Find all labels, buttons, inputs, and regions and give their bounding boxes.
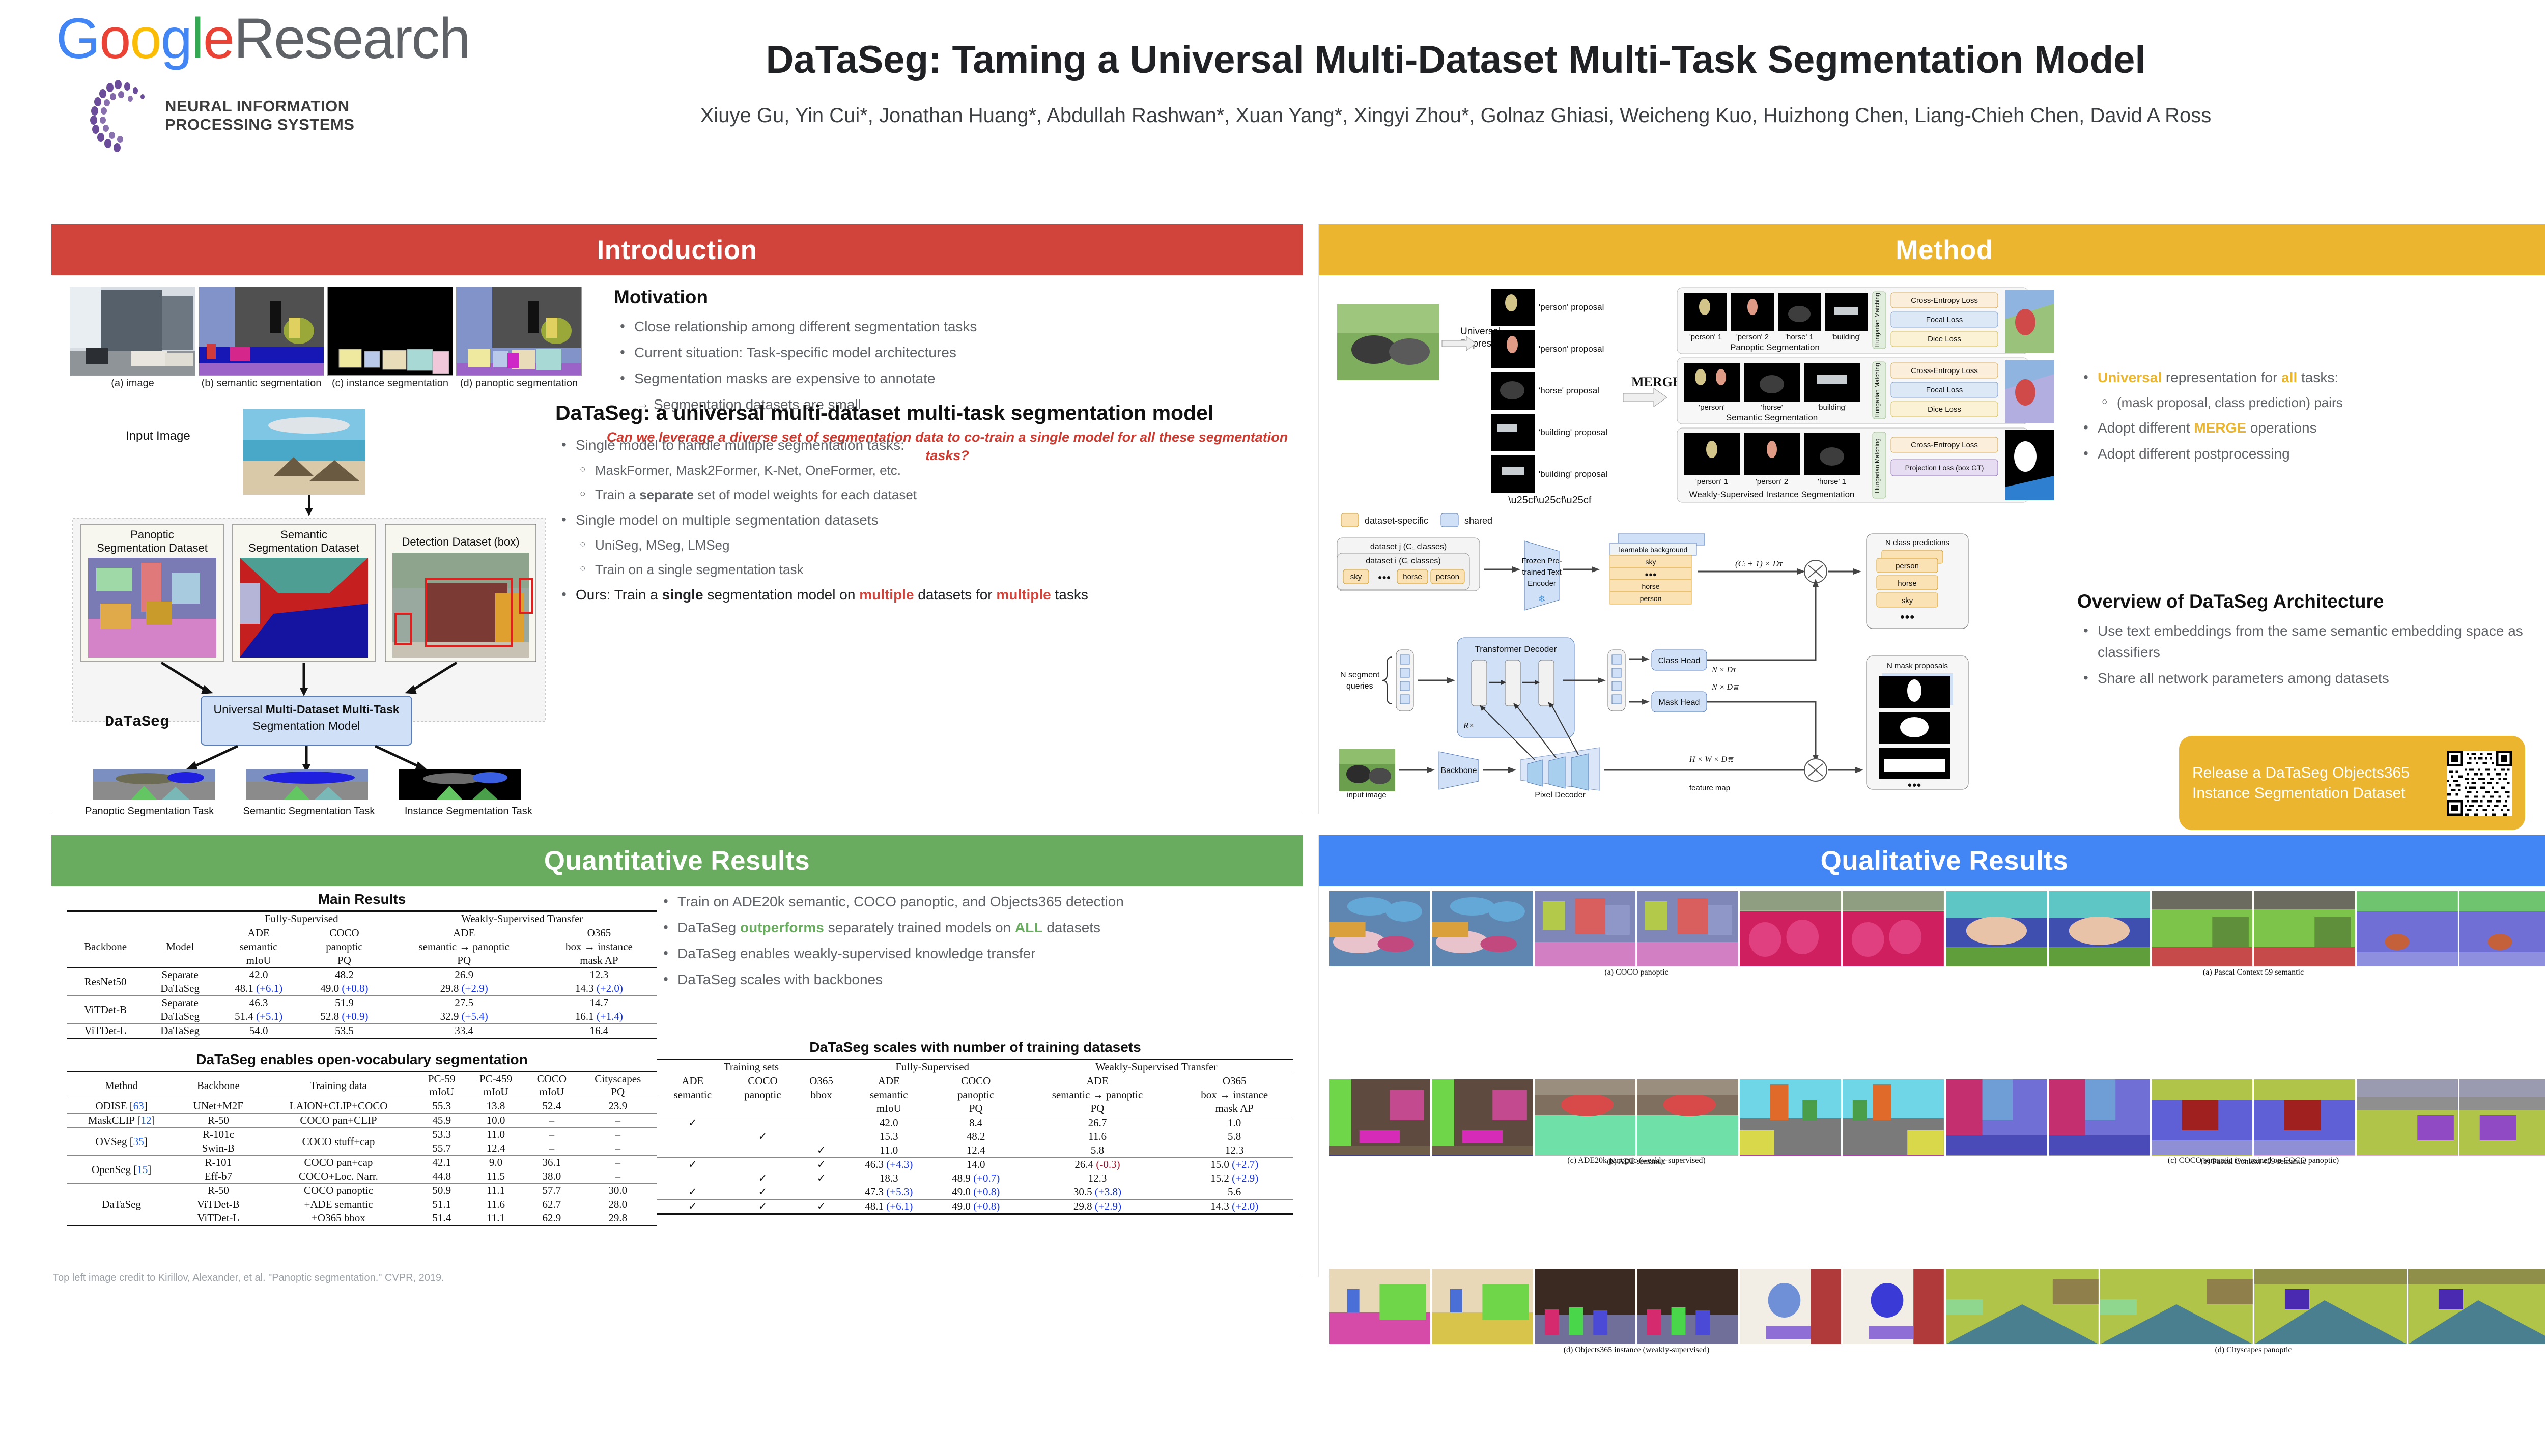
cell-value: 12.4 — [932, 1144, 1020, 1158]
qual-strip — [1329, 1079, 1944, 1155]
architecture-overview-item: Share all network parameters among datas… — [2077, 668, 2545, 689]
svg-text:Panoptic: Panoptic — [130, 528, 174, 541]
scale-hdr-m2: COCO — [932, 1074, 1020, 1089]
introduction-panel: Introduction — [51, 224, 1303, 814]
svg-text:'building' proposal: 'building' proposal — [1539, 469, 1607, 479]
quantitative-title: Quantitative Results — [544, 845, 810, 876]
motivation-title: Motivation — [614, 287, 1276, 308]
qual-cell-coco-semantic: (c) COCO semantic (we trained on COCO pa… — [1946, 1079, 2545, 1267]
check-cell: ✓ — [797, 1158, 845, 1172]
table-row: ✓ 11.0 12.4 5.8 12.3 — [657, 1144, 1293, 1158]
dataseg-description: DaTaSeg: a universal multi-dataset multi… — [555, 400, 1278, 610]
dataseg-bullet-list: Single model to handle multiple segmenta… — [555, 435, 1278, 606]
qr-code-icon[interactable] — [2447, 751, 2512, 816]
merge-row-panoptic: 'person' 1 'person' 2 'horse' 1 'buildin… — [1677, 288, 2054, 354]
google-letter-l: l — [191, 7, 203, 70]
cell-value: 18.3 — [845, 1172, 932, 1185]
scale-table-title: DaTaSeg scales with number of training d… — [657, 1039, 1293, 1055]
svg-text:'person' 2: 'person' 2 — [1756, 477, 1788, 486]
svg-text:horse: horse — [1642, 582, 1659, 590]
scale-group-weakly: Weakly-Supervised Transfer — [1020, 1060, 1293, 1074]
qual-tile — [1946, 1079, 2047, 1155]
label-dataseg: DaTaSeg — [105, 713, 169, 731]
cell-value: 11.1 — [467, 1184, 525, 1198]
svg-text:Hungarian Matching: Hungarian Matching — [1874, 438, 1881, 493]
scale-met-2: PQ — [932, 1102, 1020, 1116]
cell-value: 51.4 — [417, 1211, 467, 1226]
qual-tile — [1740, 891, 1841, 966]
svg-text:Projection Loss (box GT): Projection Loss (box GT) — [1905, 464, 1984, 472]
cell-value: 62.7 — [525, 1197, 578, 1211]
table-row: DaTaSeg R-50 COCO panoptic 50.9 11.1 57.… — [67, 1184, 657, 1198]
cell-value: 11.0 — [467, 1128, 525, 1142]
check-cell: ✓ — [797, 1144, 845, 1158]
check-cell: ✓ — [657, 1185, 728, 1200]
label-mask-proposals: N mask proposals — [1887, 662, 1948, 670]
cell-backbone: Swin-B — [176, 1141, 260, 1156]
dataseg-subbullet: Train on a single segmentation task — [555, 560, 1278, 580]
table-row: ViTDet-L DaTaSeg 54.0 53.5 33.4 16.4 — [67, 1024, 657, 1039]
svg-text:●●●: ●●● — [1900, 613, 1915, 621]
task-caption-instance: Instance Segmentation Task — [389, 806, 548, 817]
svg-text:sky: sky — [1350, 573, 1362, 581]
main-results-title: Main Results — [67, 891, 657, 907]
neurips-spiral-icon — [87, 78, 163, 152]
svg-text:sky: sky — [1646, 558, 1656, 566]
task-caption-semantic: Semantic Segmentation Task — [229, 806, 388, 817]
svg-text:'person' 2: 'person' 2 — [1736, 333, 1769, 341]
check-cell: ✓ — [797, 1172, 845, 1185]
svg-text:'horse': 'horse' — [1761, 403, 1783, 412]
scale-sub-7: box → instance — [1175, 1088, 1293, 1102]
scale-sub-1: semantic — [657, 1088, 728, 1102]
delta: (+0.9) — [342, 1010, 368, 1022]
cell-train: +O365 bbox — [260, 1211, 416, 1226]
cell-value: – — [579, 1156, 657, 1170]
cell-value: 5.8 — [1175, 1130, 1293, 1144]
dataseg-subbullet: UniSeg, MSeg, LMSeg — [555, 535, 1278, 555]
method-text-1: representation for — [2162, 369, 2281, 385]
emph-all: all — [2281, 369, 2297, 385]
label-mask-head: Mask Head — [1659, 698, 1700, 707]
delta: (+5.4) — [462, 1010, 488, 1022]
qual-tile — [2254, 1269, 2407, 1344]
scale-sub-4: semantic — [845, 1088, 932, 1102]
motivation-item: Close relationship among different segme… — [614, 316, 1276, 337]
quantitative-banner: Quantitative Results — [51, 835, 1303, 886]
cell-value: 48.1 (+6.1) — [216, 982, 301, 996]
method-text-3: Adopt different — [2098, 420, 2194, 436]
dataseg-bullet: Single model on multiple segmentation da… — [555, 509, 1278, 531]
qual-tile — [1637, 1269, 1738, 1344]
cell-value: – — [579, 1141, 657, 1156]
dataseg-overview-diagram: Input Image Panoptic Segmenta — [70, 400, 558, 817]
method-bullet-merge: Adopt different MERGE operations — [2077, 417, 2545, 439]
check-cell: ✓ — [728, 1172, 798, 1185]
dataset-release-text: Release a DaTaSeg Objects365 Instance Se… — [2192, 763, 2447, 803]
cell-value: – — [579, 1128, 657, 1142]
cell-value: 53.3 — [417, 1128, 467, 1142]
delta: (+4.3) — [886, 1158, 913, 1170]
cell-train: COCO+Loc. Narr. — [260, 1169, 416, 1184]
cell-value: 30.5 (+3.8) — [1020, 1185, 1176, 1200]
cell-backbone: Eff-b7 — [176, 1169, 260, 1184]
quant-bullet: Train on ADE20k semantic, COCO panoptic,… — [657, 891, 1293, 912]
intro-caption-b: (b) semantic segmentation — [199, 378, 324, 389]
quant-bullet-outperforms: DaTaSeg outperforms separately trained m… — [657, 917, 1293, 938]
table-row: ✓✓✓ 48.1 (+6.1) 49.0 (+0.8) 29.8 (+2.9) … — [657, 1200, 1293, 1214]
method-bullet-universal: Universal representation for all tasks: — [2077, 367, 2545, 388]
table-row: OVSeg [35] R-101c COCO stuff+cap 53.3 11… — [67, 1128, 657, 1142]
main-group-fully: Fully-Supervised — [216, 911, 387, 926]
qual-tile — [2357, 1079, 2458, 1155]
cell-method: OVSeg [35] — [67, 1128, 176, 1156]
cell-method: OpenSeg [15] — [67, 1156, 176, 1184]
cell-value: 51.4 (+5.1) — [216, 1010, 301, 1024]
cell-backbone: R-50 — [176, 1114, 260, 1128]
scale-sub-2: panoptic — [728, 1088, 798, 1102]
cell-value: 29.8 (+2.9) — [1020, 1200, 1176, 1214]
cell-value: 55.3 — [417, 1099, 467, 1114]
hdr-metric-1: mIoU — [216, 954, 301, 968]
svg-text:queries: queries — [1346, 682, 1373, 691]
merge-row-semantic: 'person' 'horse' 'building' Semantic Seg… — [1677, 358, 2054, 424]
intro-figure-c: (c) instance segmentation — [327, 287, 453, 389]
scale-met-3: PQ — [1020, 1102, 1176, 1116]
citation-link[interactable]: 12 — [140, 1114, 151, 1126]
qual-tile — [1740, 1269, 1841, 1344]
qual-caption-c-left: (c) ADE20k panoptic (weakly-supervised) — [1329, 1156, 1944, 1165]
cell-train: COCO pan+cap — [260, 1156, 416, 1170]
qual-tile — [1637, 1079, 1738, 1155]
qual-strip — [1946, 1079, 2545, 1155]
svg-text:'person' 1: 'person' 1 — [1695, 477, 1728, 486]
hdr-ov-coco: COCOmIoU — [525, 1072, 578, 1099]
qual-tile — [1432, 1079, 1533, 1155]
cell-backbone: R-50 — [176, 1184, 260, 1198]
cell-value: 14.0 — [932, 1158, 1020, 1172]
label-pixel-decoder: Pixel Decoder — [1535, 791, 1586, 800]
dataseg-ours-bullet: Ours: Train a single segmentation model … — [555, 584, 1278, 606]
introduction-title: Introduction — [597, 235, 757, 266]
delta: (+5.3) — [886, 1186, 913, 1198]
delta: (+0.8) — [342, 982, 368, 994]
label-dim-mask: N × Dℼ — [1711, 683, 1739, 692]
scale-met-4: mask AP — [1175, 1102, 1293, 1116]
cell-value: 57.7 — [525, 1184, 578, 1198]
label-input-image: Input Image — [126, 429, 190, 443]
svg-text:horse: horse — [1898, 579, 1917, 588]
qual-caption-c-right: (c) COCO semantic (we trained on COCO pa… — [1946, 1156, 2545, 1165]
neurips-line1: NEURAL INFORMATION — [165, 97, 354, 116]
dataseg-subbullet: Train a separate set of model weights fo… — [555, 485, 1278, 505]
svg-text:❄: ❄ — [1538, 594, 1545, 604]
hdr-ov-city: CityscapesPQ — [579, 1072, 657, 1099]
poster-title: DaTaSeg: Taming a Universal Multi-Datase… — [499, 38, 2413, 81]
hdr-metric-3: PQ — [387, 954, 541, 968]
cell-value: 29.8 — [579, 1211, 657, 1226]
qual-tile — [1843, 1269, 1944, 1344]
cell-value: 9.0 — [467, 1156, 525, 1170]
cell-value: 26.7 — [1020, 1116, 1176, 1130]
scale-met-1: mIoU — [845, 1102, 932, 1116]
architecture-overview-title: Overview of DaTaSeg Architecture — [2077, 591, 2545, 612]
hdr-sub-4: box → instance — [541, 940, 657, 954]
cell-value: 38.0 — [525, 1169, 578, 1184]
cell-value: 48.1 (+6.1) — [845, 1200, 932, 1214]
cell-value: 42.0 — [216, 968, 301, 982]
table-row: DaTaSeg 48.1 (+6.1) 49.0 (+0.8) 29.8 (+2… — [67, 982, 657, 996]
qual-tile — [2357, 891, 2458, 966]
method-title: Method — [1896, 235, 1993, 266]
scale-hdr-m1: ADE — [845, 1074, 932, 1089]
dataseg-bullet: Single model to handle multiple segmenta… — [555, 435, 1278, 456]
intro-caption-a: (a) image — [70, 378, 195, 389]
cell-value: 49.0 (+0.8) — [932, 1200, 1020, 1214]
cell-backbone: ViTDet-L — [67, 1024, 144, 1039]
svg-text:Cross-Entropy Loss: Cross-Entropy Loss — [1911, 441, 1978, 449]
qual-tile — [1740, 1079, 1841, 1155]
cell-value: 46.3 — [216, 996, 301, 1010]
delta: (+3.8) — [1095, 1186, 1121, 1198]
cell-train: +ADE semantic — [260, 1197, 416, 1211]
cell-value: – — [525, 1114, 578, 1128]
cell-value: 44.8 — [417, 1169, 467, 1184]
cell-backbone: UNet+M2F — [176, 1099, 260, 1114]
introduction-body: (a) image — [51, 275, 1303, 814]
svg-text:person: person — [1640, 594, 1662, 603]
cell-value: 62.9 — [525, 1211, 578, 1226]
cell-value: 11.1 — [467, 1211, 525, 1226]
cell-value: 26.9 — [387, 968, 541, 982]
image-credit: Top left image credit to Kirillov, Alexa… — [53, 1272, 444, 1284]
dataseg-diagram-svg: Input Image Panoptic Segmenta — [70, 400, 548, 802]
quant-right-column: Train on ADE20k semantic, COCO panoptic,… — [657, 891, 1293, 1215]
qual-tile — [2049, 1079, 2150, 1155]
cell-method: DaTaSeg — [67, 1184, 176, 1226]
svg-text:sky: sky — [1902, 596, 1913, 605]
qual-cell-ade20k-panoptic: (c) ADE20k panoptic (weakly-supervised) — [1329, 1079, 1944, 1267]
quant-left-column: Main Results Fully-Supervised Weakly-Sup… — [67, 891, 657, 1226]
architecture-overview-list: Use text embeddings from the same semant… — [2077, 620, 2545, 689]
cell-value: 51.1 — [417, 1197, 467, 1211]
intro-caption-c: (c) instance segmentation — [327, 378, 453, 389]
intro-image-instance — [327, 287, 453, 376]
method-bullets-top: Universal representation for all tasks: … — [2077, 367, 2545, 469]
hdr-sub-2: panoptic — [301, 940, 387, 954]
dataseg-subbullet: MaskFormer, Mask2Former, K-Net, OneForme… — [555, 461, 1278, 480]
dataseg-task-captions: Panoptic Segmentation Task Semantic Segm… — [70, 806, 548, 817]
cell-train: LAION+CLIP+COCO — [260, 1099, 416, 1114]
intro-figure-d: (d) panoptic segmentation — [456, 287, 582, 389]
delta: (+2.0) — [597, 982, 623, 994]
research-wordmark: Research — [234, 7, 469, 70]
scale-hdr-o365: O365 — [797, 1074, 845, 1089]
neurips-line2: PROCESSING SYSTEMS — [165, 116, 354, 134]
architecture-diagram: dataset-specific shared dataset j (C₁ cl… — [1333, 509, 2081, 802]
svg-text:'person' proposal: 'person' proposal — [1539, 344, 1604, 354]
label-dim-class: N × Dᴛ — [1711, 666, 1737, 674]
quant-bullet: DaTaSeg scales with backbones — [657, 969, 1293, 990]
check-cell: ✓ — [657, 1200, 728, 1214]
citation-link[interactable]: 15 — [137, 1163, 148, 1176]
cell-value: 47.3 (+5.3) — [845, 1185, 932, 1200]
delta: (+0.7) — [973, 1172, 1000, 1184]
svg-text:●●●: ●●● — [1645, 570, 1657, 578]
svg-text:'person': 'person' — [1699, 403, 1725, 412]
cell-value: 55.7 — [417, 1141, 467, 1156]
emph-separate: separate — [639, 487, 694, 502]
method-bullet-postproc: Adopt different postprocessing — [2077, 443, 2545, 465]
cell-value: 48.2 — [301, 968, 387, 982]
table-row: MaskCLIP [12] R-50 COCO pan+CLIP 45.9 10… — [67, 1114, 657, 1128]
delta-negative: (-0.3) — [1096, 1158, 1120, 1170]
cell-value: 11.0 — [845, 1144, 932, 1158]
quant-bullet: DaTaSeg enables weakly-supervised knowle… — [657, 943, 1293, 964]
intro-image-photo — [70, 287, 195, 376]
qualitative-body: (a) COCO panoptic (a) Pascal Context 59 … — [1319, 886, 2545, 1277]
check-cell: ✓ — [797, 1200, 845, 1214]
svg-text:'horse' proposal: 'horse' proposal — [1539, 386, 1599, 395]
svg-text:Universal Multi-Dataset Multi-: Universal Multi-Dataset Multi-Task — [213, 703, 399, 716]
svg-text:Cross-Entropy Loss: Cross-Entropy Loss — [1911, 366, 1978, 375]
table-row: ✓✓ 47.3 (+5.3) 49.0 (+0.8) 30.5 (+3.8) 5… — [657, 1185, 1293, 1200]
cell-value: 12.3 — [1175, 1144, 1293, 1158]
svg-text:'person' 1: 'person' 1 — [1689, 333, 1722, 341]
qual-tile — [1535, 891, 1636, 966]
scale-group-fully: Fully-Supervised — [845, 1060, 1020, 1074]
architecture-diagram-svg: dataset-specific shared dataset j (C₁ cl… — [1333, 509, 2081, 800]
qual-tile — [1535, 1079, 1636, 1155]
label-backbone: Backbone — [1440, 766, 1477, 775]
intro-figure-b: (b) semantic segmentation — [199, 287, 324, 389]
qual-tile — [1843, 891, 1944, 966]
citation-link[interactable]: 35 — [133, 1135, 144, 1148]
svg-text:Segmentation Model: Segmentation Model — [253, 719, 360, 732]
svg-text:'horse' 1: 'horse' 1 — [1785, 333, 1814, 341]
cell-value: 10.0 — [467, 1114, 525, 1128]
label-dim-feature: H × W × Dℼ — [1689, 755, 1734, 764]
svg-text:'building': 'building' — [1831, 333, 1861, 341]
cell-value: 48.9 (+0.7) — [932, 1172, 1020, 1185]
svg-text:Panoptic Segmentation: Panoptic Segmentation — [1730, 342, 1820, 352]
open-vocab-table: Method Backbone Training data PC-59mIoU … — [67, 1071, 657, 1226]
qual-tile — [1946, 891, 2047, 966]
qual-tile — [1535, 1269, 1636, 1344]
svg-text:'horse' 1: 'horse' 1 — [1818, 477, 1846, 486]
dataset-release-callout[interactable]: Release a DaTaSeg Objects365 Instance Se… — [2179, 736, 2525, 830]
qualitative-title: Qualitative Results — [1821, 845, 2069, 876]
qual-tile — [2152, 891, 2253, 966]
qual-tile — [1432, 1269, 1533, 1344]
hdr-ov-train: Training data — [260, 1072, 416, 1099]
cell-value: 26.4 (-0.3) — [1020, 1158, 1176, 1172]
scale-hdr-m4: O365 — [1175, 1074, 1293, 1089]
svg-text:Segmentation Dataset: Segmentation Dataset — [97, 541, 208, 554]
cell-backbone: ViTDet-B — [67, 996, 144, 1024]
delta: (+6.1) — [256, 982, 282, 994]
svg-text:Focal Loss: Focal Loss — [1926, 316, 1963, 324]
delta: (+2.9) — [1232, 1172, 1258, 1184]
cell-backbone: R-101c — [176, 1128, 260, 1142]
qual-strip — [1946, 1269, 2545, 1344]
hdr-ov-backbone: Backbone — [176, 1072, 260, 1099]
scale-table: Training sets Fully-Supervised Weakly-Su… — [657, 1059, 1293, 1215]
quant-bullet-list: Train on ADE20k semantic, COCO panoptic,… — [657, 891, 1293, 990]
hdr-sub-1: semantic — [216, 940, 301, 954]
label-transformer-decoder: Transformer Decoder — [1475, 644, 1557, 654]
motivation-item: Current situation: Task-specific model a… — [614, 342, 1276, 363]
qual-strip — [1946, 891, 2545, 966]
cell-value: 49.0 (+0.8) — [301, 982, 387, 996]
method-body: Universal Representation 'person' propos… — [1319, 275, 2545, 814]
cell-value: 23.9 — [579, 1099, 657, 1114]
ours-bold: single — [662, 587, 703, 603]
delta: (+1.4) — [597, 1010, 623, 1022]
legend-dataset-specific: dataset-specific — [1365, 516, 1428, 526]
cell-method: ODISE [63] — [67, 1099, 176, 1114]
cell-value: – — [525, 1141, 578, 1156]
svg-text:'building': 'building' — [1817, 403, 1847, 412]
ours-mid: segmentation model on — [703, 587, 860, 603]
cell-value: 14.7 — [541, 996, 657, 1010]
qr-code-svg — [2447, 751, 2512, 816]
svg-text:Hungarian Matching: Hungarian Matching — [1874, 363, 1881, 417]
delta: (+0.8) — [973, 1200, 1000, 1212]
cell-value: 14.3 (+2.0) — [541, 982, 657, 996]
check-cell: ✓ — [657, 1116, 728, 1130]
svg-text:Cross-Entropy Loss: Cross-Entropy Loss — [1911, 296, 1978, 305]
qual-caption-d-left: (d) Objects365 instance (weakly-supervis… — [1329, 1346, 1944, 1355]
neurips-logo: NEURAL INFORMATION PROCESSING SYSTEMS — [87, 78, 473, 152]
svg-text:Dice Loss: Dice Loss — [1928, 335, 1961, 344]
quantitative-panel: Quantitative Results Main Results Fully-… — [51, 835, 1303, 1277]
svg-text:Frozen Pre-: Frozen Pre- — [1521, 557, 1562, 565]
svg-text:Focal Loss: Focal Loss — [1926, 386, 1963, 394]
delta: (+2.0) — [1232, 1200, 1258, 1212]
ours-red2: multiple — [996, 587, 1051, 603]
qual-caption-a-left: (a) COCO panoptic — [1329, 968, 1944, 977]
main-group-weakly: Weakly-Supervised Transfer — [387, 911, 657, 926]
citation-link[interactable]: 63 — [133, 1100, 144, 1112]
logo-group: GoogleResearch — [56, 10, 473, 152]
legend-shared: shared — [1464, 516, 1492, 526]
label-dataset-j: dataset j (C₁ classes) — [1370, 543, 1447, 551]
svg-text:person: person — [1436, 573, 1459, 581]
qual-caption-d-right: (d) Cityscapes panoptic — [1946, 1346, 2545, 1355]
cell-train: COCO panoptic — [260, 1184, 416, 1198]
cell-value: 16.1 (+1.4) — [541, 1010, 657, 1024]
label-input-image-arch: input image — [1347, 791, 1387, 800]
hdr-metric-2: PQ — [301, 954, 387, 968]
cell-value: 49.0 (+0.8) — [932, 1185, 1020, 1200]
qual-tile — [2459, 1079, 2545, 1155]
label-class-predictions: N class predictions — [1885, 538, 1949, 547]
cell-value: 11.6 — [1020, 1130, 1176, 1144]
table-row: ✓✓ 46.3 (+4.3) 14.0 26.4 (-0.3) 15.0 (+2… — [657, 1158, 1293, 1172]
svg-text:Semantic Segmentation: Semantic Segmentation — [1726, 413, 1818, 422]
scale-hdr-coco: COCO — [728, 1074, 798, 1089]
qual-strip — [1329, 891, 1944, 966]
table-row: ✓ 42.0 8.4 26.7 1.0 — [657, 1116, 1293, 1130]
cell-value: 5.6 — [1175, 1185, 1293, 1200]
merge-diagram-svg: Universal Representation 'person' propos… — [1333, 283, 2163, 507]
table-row: ResNet50 Separate 42.0 48.2 26.9 12.3 — [67, 968, 657, 982]
introduction-banner: Introduction — [51, 224, 1303, 275]
scale-group-training: Training sets — [657, 1060, 845, 1074]
svg-text:Hungarian Matching: Hungarian Matching — [1874, 293, 1881, 347]
scale-hdr-ade: ADE — [657, 1074, 728, 1089]
